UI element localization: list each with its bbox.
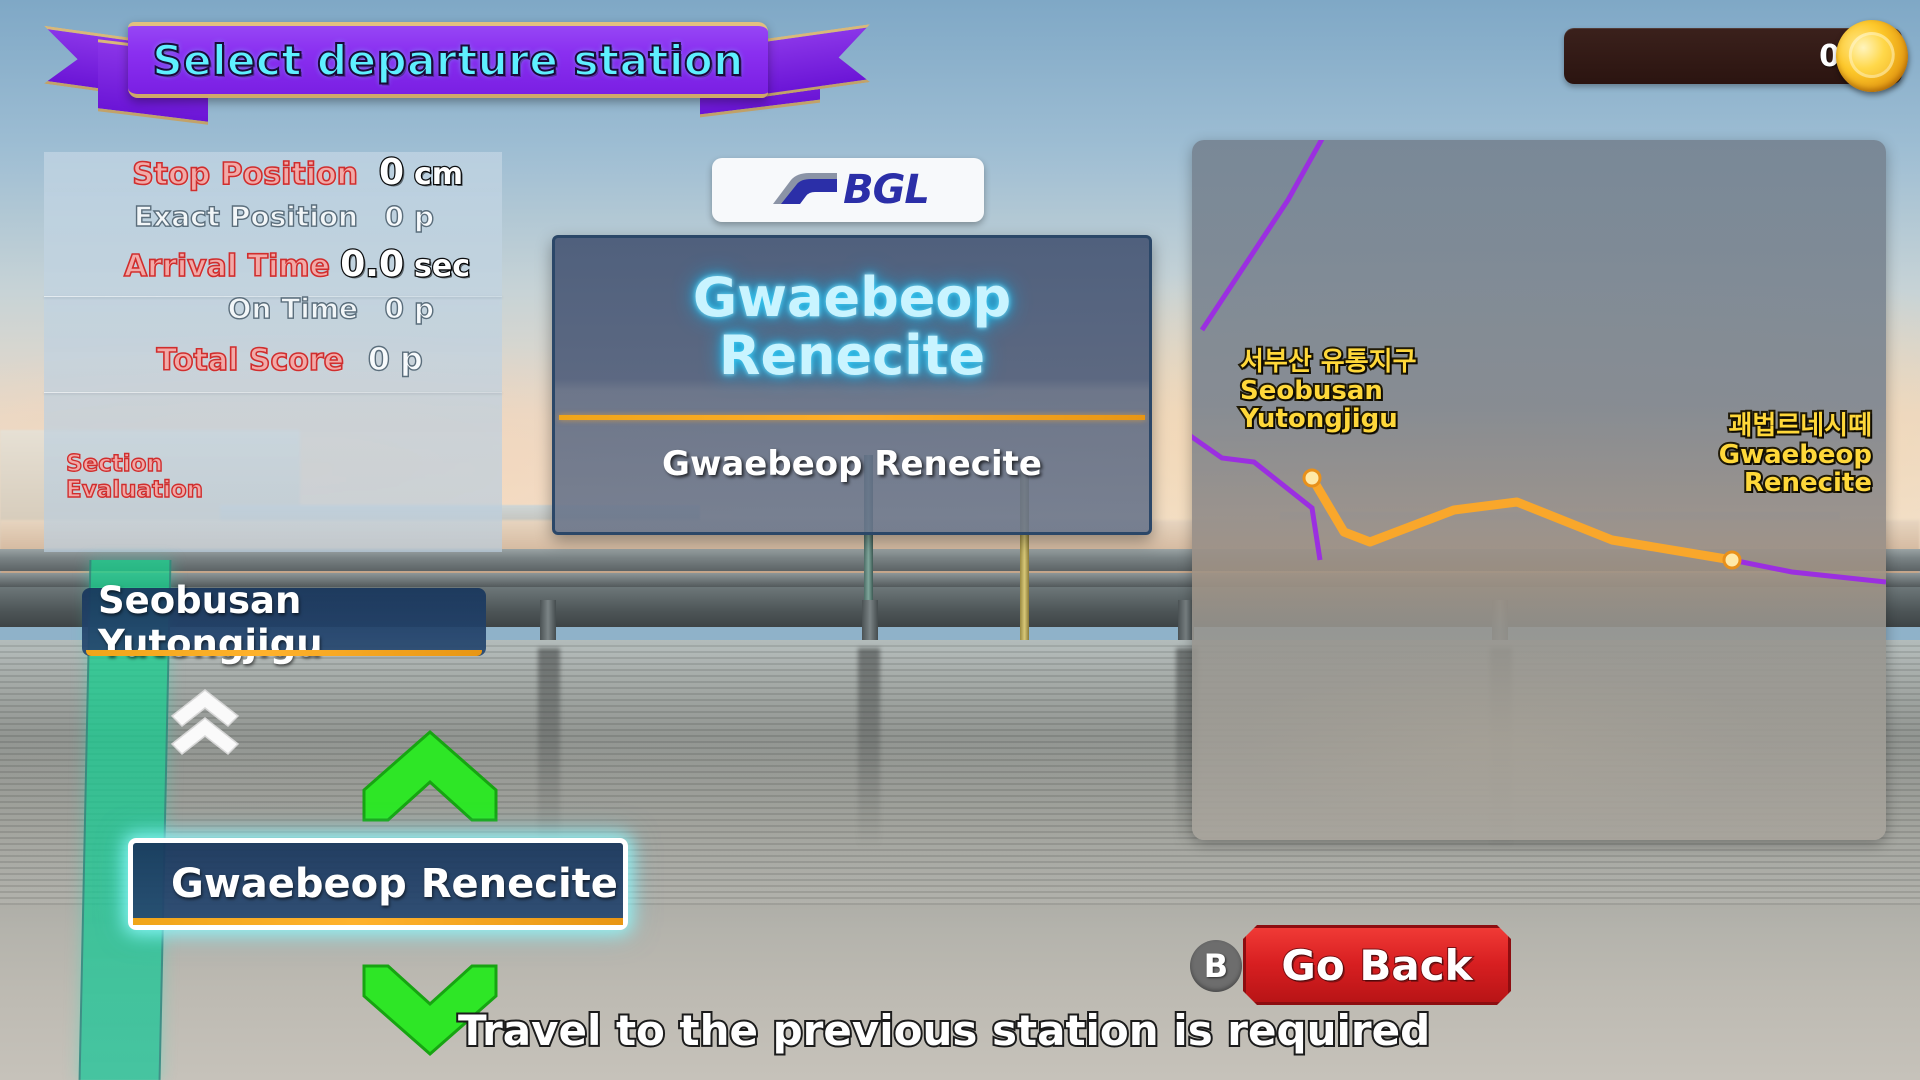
operator-logo: BGL: [712, 158, 984, 222]
station-list-item-selected[interactable]: Gwaebeop Renecite: [128, 838, 628, 930]
stat-label: On Time: [44, 292, 358, 325]
map-label-line1: Seobusan: [1240, 377, 1417, 406]
station-name-line1: Gwaebeop: [693, 266, 1011, 329]
stat-row-arrival-time: Arrival Time 0.0 sec: [44, 244, 502, 285]
stat-label: Stop Position: [44, 157, 358, 192]
station-romanized-text: Gwaebeop Renecite: [662, 444, 1042, 484]
stat-label: Total Score: [44, 343, 344, 378]
map-label-line2: Renecite: [1719, 469, 1872, 498]
stat-row-total-score: Total Score 0 p: [44, 340, 502, 378]
section-evaluation-label: Section Evaluation: [66, 452, 286, 504]
go-back-button[interactable]: Go Back: [1243, 925, 1511, 1005]
stat-value: 0.0: [330, 244, 404, 285]
page-title: Select departure station: [152, 36, 743, 85]
hint-text: Travel to the previous station is requir…: [458, 1006, 1430, 1055]
stat-unit: sec: [414, 249, 470, 284]
map-label-korean: 서부산 유통지구: [1240, 348, 1417, 377]
header-banner: Select departure station: [40, 8, 860, 108]
map-label-gwaebeop: 괘법르네시떼 Gwaebeop Renecite: [1719, 412, 1872, 498]
stat-label: Exact Position: [44, 200, 358, 233]
station-sign-name: GwaebeopRenecite: [555, 238, 1149, 415]
reflection-column: [538, 648, 560, 848]
stat-value: 0: [358, 292, 404, 325]
stat-unit: p: [414, 200, 434, 233]
station-name-line2: Renecite: [719, 324, 985, 387]
stat-value: 0: [358, 200, 404, 233]
route-segment-active: [1312, 478, 1732, 560]
stat-label: Arrival Time: [44, 249, 330, 284]
stat-unit: cm: [414, 157, 463, 192]
station-sign-romanized: Gwaebeop Renecite: [555, 420, 1149, 532]
map-label-korean: 괘법르네시떼: [1719, 412, 1872, 441]
train-front-icon: [767, 170, 841, 210]
gamepad-b-button-icon: B: [1190, 940, 1242, 992]
double-chevron-up-icon: [170, 688, 240, 756]
map-label-line2: Yutongjigu: [1240, 405, 1417, 434]
stat-row-on-time: On Time 0 p: [44, 292, 502, 325]
operator-logo-text: BGL: [843, 167, 929, 213]
route-map-panel[interactable]: 서부산 유통지구 Seobusan Yutongjigu 괘법르네시떼 Gwae…: [1192, 140, 1886, 840]
score-panel: Stop Position 0 cm Exact Position 0 p Ar…: [44, 152, 502, 552]
reflection-column: [858, 648, 880, 848]
stat-row-stop-position: Stop Position 0 cm: [44, 152, 502, 193]
stat-row-exact-position: Exact Position 0 p: [44, 200, 502, 233]
stat-value: 0: [344, 340, 390, 378]
game-screen: Select departure station 0 Stop Position…: [0, 0, 1920, 1080]
stat-value: 0: [358, 152, 404, 193]
station-dot-seobusan: [1304, 470, 1320, 486]
line-segment-purple-mid: [1192, 430, 1320, 560]
station-name-lines: GwaebeopRenecite: [693, 269, 1011, 383]
station-list-item-previous[interactable]: Seobusan Yutongjigu: [82, 588, 486, 656]
chevron-up-icon[interactable]: [360, 728, 500, 826]
map-label-line1: Gwaebeop: [1719, 441, 1872, 470]
ribbon-tail-right: [758, 24, 870, 98]
station-item-accent: [86, 650, 482, 656]
map-label-seobusan: 서부산 유통지구 Seobusan Yutongjigu: [1240, 348, 1417, 434]
station-list-item-label: Gwaebeop Renecite: [171, 861, 618, 907]
divider: [44, 392, 502, 393]
station-item-accent: [133, 918, 623, 925]
banner-body: Select departure station: [128, 22, 768, 98]
line-segment-purple-upper: [1202, 140, 1327, 330]
station-sign: GwaebeopRenecite Gwaebeop Renecite: [552, 235, 1152, 535]
line-segment-purple-right: [1732, 560, 1886, 582]
stat-unit: p: [400, 340, 423, 378]
stat-unit: p: [414, 292, 434, 325]
gamepad-b-label: B: [1204, 947, 1228, 985]
go-back-label: Go Back: [1281, 941, 1472, 990]
station-dot-gwaebeop: [1724, 552, 1740, 568]
